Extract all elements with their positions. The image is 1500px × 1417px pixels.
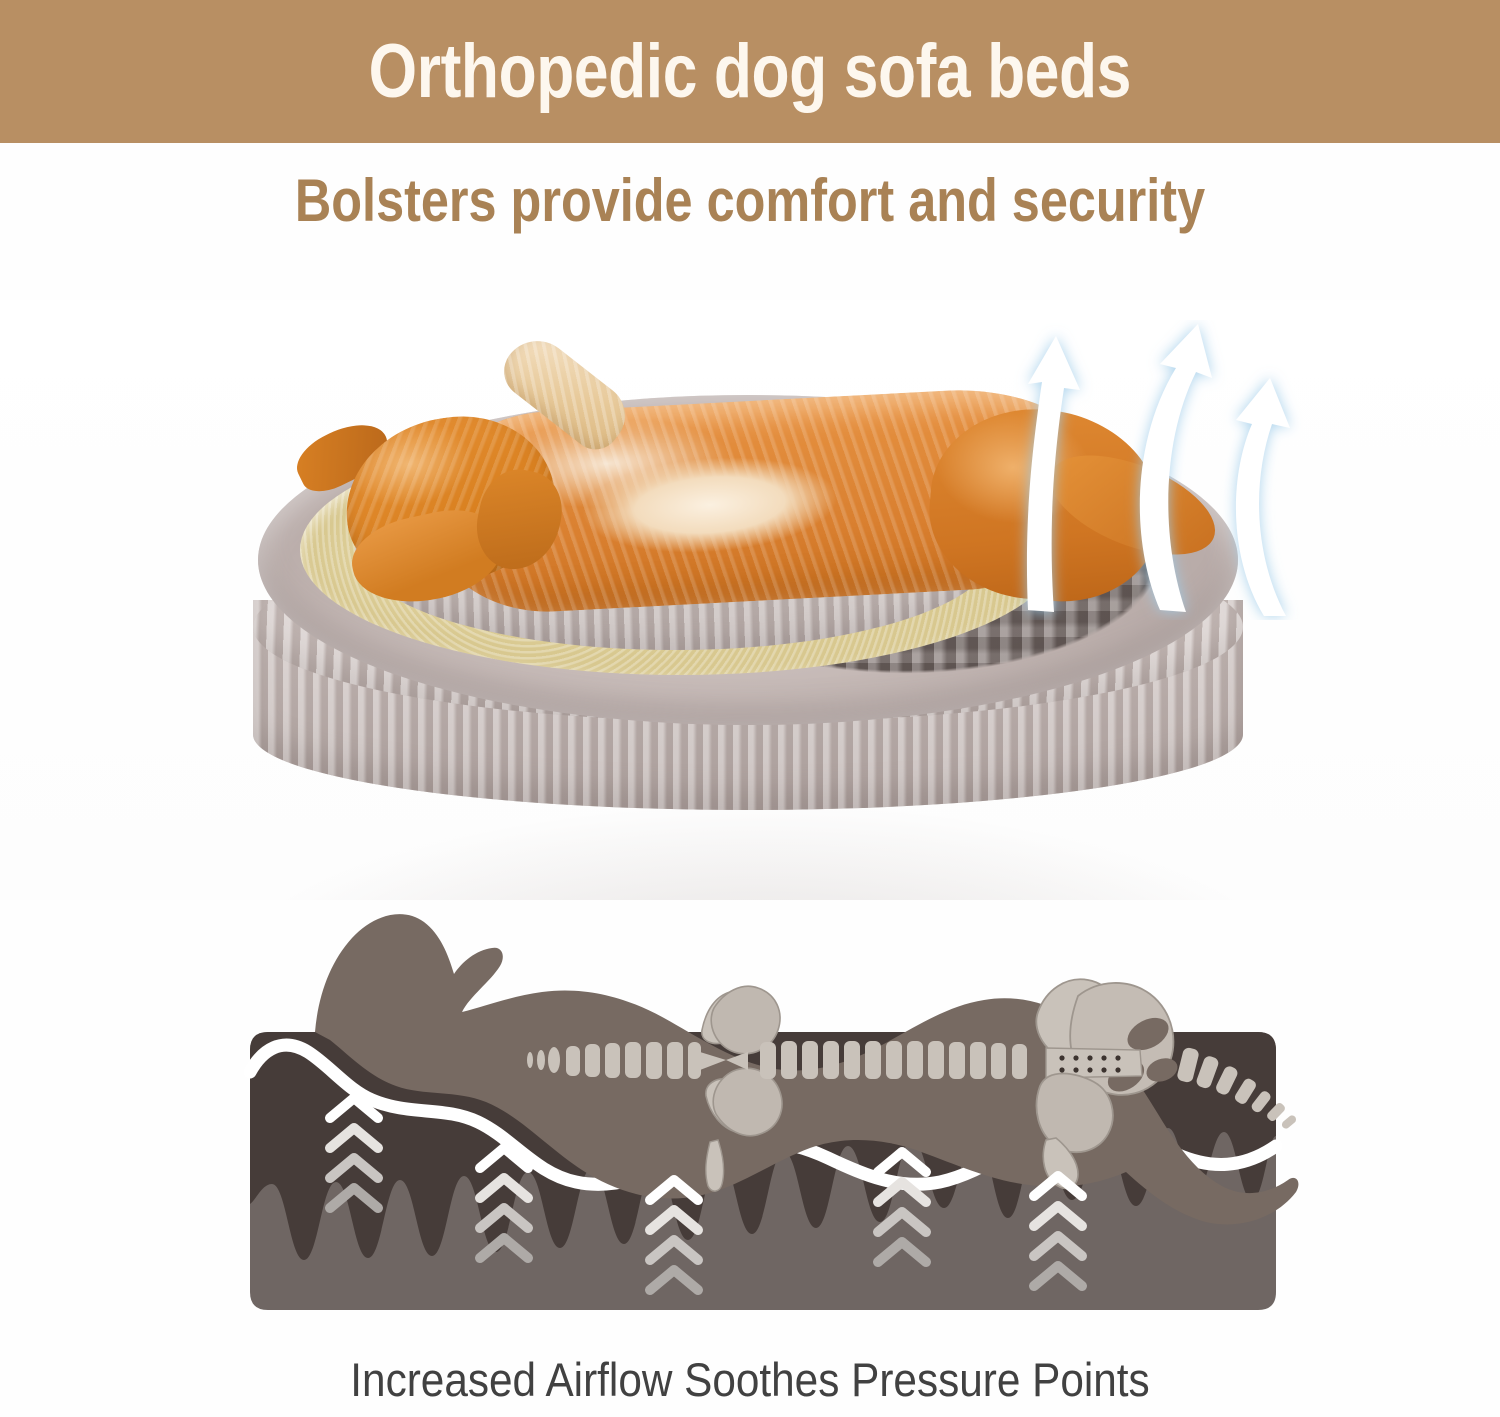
subtitle-text: Bolsters provide comfort and security <box>120 168 1380 234</box>
airflow-arrow-3 <box>1236 378 1290 616</box>
airflow-arrow-2 <box>1140 324 1212 612</box>
photo-stage <box>0 300 1500 900</box>
product-photo <box>0 300 1500 900</box>
cross-section-diagram <box>0 900 1500 1330</box>
diagram-caption: Increased Airflow Soothes Pressure Point… <box>75 1352 1425 1407</box>
airflow-arrow-1 <box>1027 336 1080 612</box>
cross-section-svg <box>0 900 1500 1330</box>
header-band: Orthopedic dog sofa beds <box>0 0 1500 143</box>
page-title: Orthopedic dog sofa beds <box>369 34 1131 110</box>
airflow-arrows-group <box>980 320 1320 620</box>
